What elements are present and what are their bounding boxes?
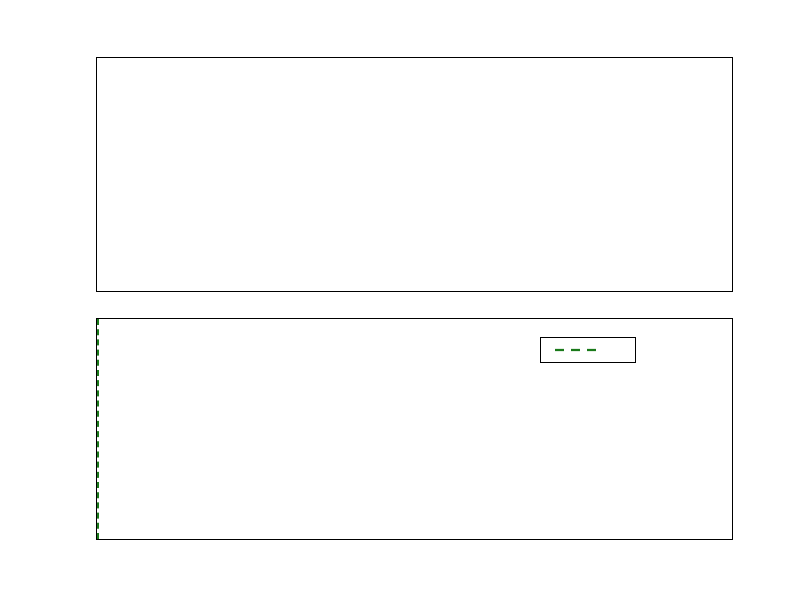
cumulative-histogram-panel (96, 318, 733, 540)
differential-histogram-panel (96, 57, 733, 292)
figure-canvas (0, 0, 800, 600)
cumulative-curve (97, 319, 733, 540)
mag-limit-dashed-line-icon (554, 345, 600, 355)
legend-box (540, 337, 636, 363)
